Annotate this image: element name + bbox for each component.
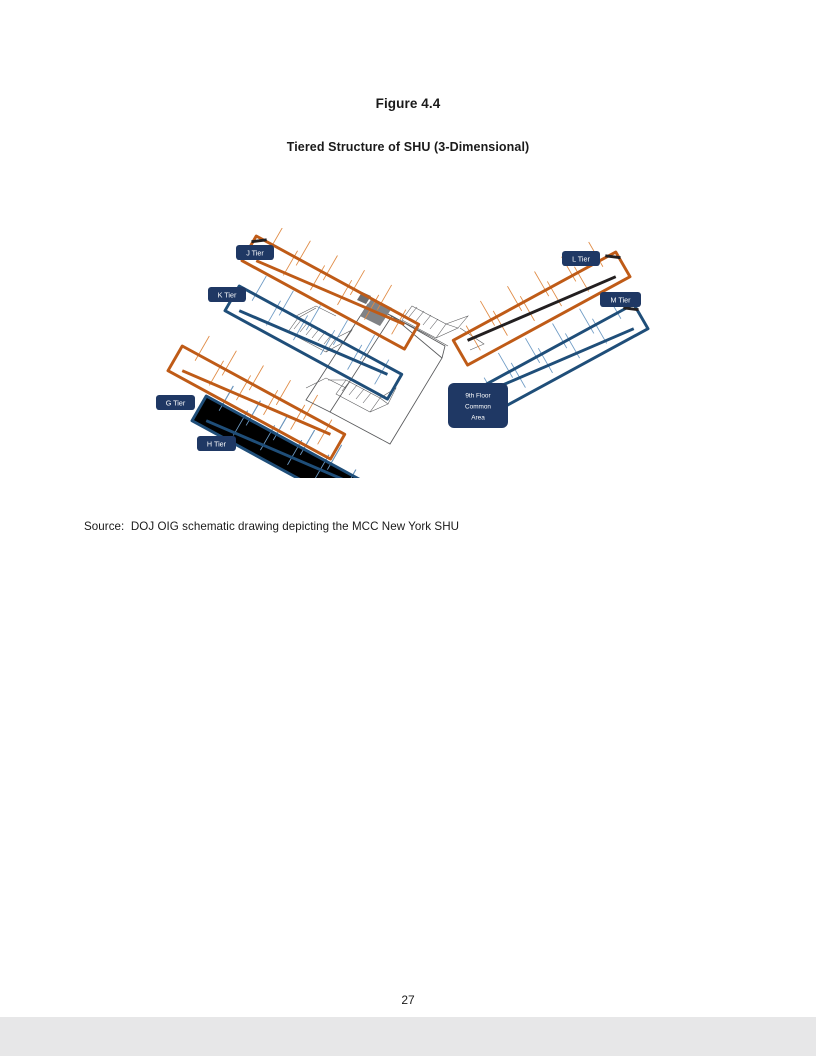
tier-group-lower-left bbox=[168, 336, 369, 478]
tier-label-l-tier-text: L Tier bbox=[572, 254, 590, 263]
tier-label-k-tier[interactable]: K Tier bbox=[208, 287, 246, 302]
tier-label-j-tier[interactable]: J Tier bbox=[236, 245, 274, 260]
source-text: DOJ OIG schematic drawing depicting the … bbox=[131, 520, 459, 533]
source-label: Source: bbox=[84, 520, 131, 533]
tier-label-j-tier-text: J Tier bbox=[246, 248, 264, 257]
tier-label-m-tier-text: M Tier bbox=[611, 295, 632, 304]
tier-label-g-tier-text: G Tier bbox=[166, 398, 186, 407]
figure-diagram: J Tier K Tier L Tier M Tier G Tier bbox=[130, 228, 690, 478]
tier-plate-k[interactable] bbox=[225, 276, 402, 399]
source-caption: Source: DOJ OIG schematic drawing depict… bbox=[84, 520, 459, 533]
footer-band bbox=[0, 1017, 816, 1056]
document-page: Figure 4.4 Tiered Structure of SHU (3-Di… bbox=[0, 0, 816, 1056]
common-area-label[interactable]: 9th Floor Common Area bbox=[448, 383, 508, 428]
common-area-ramp bbox=[357, 292, 392, 326]
tier-label-g-tier[interactable]: G Tier bbox=[156, 395, 195, 410]
tier-label-l-tier[interactable]: L Tier bbox=[562, 251, 600, 266]
tier-label-h-tier[interactable]: H Tier bbox=[197, 436, 236, 451]
common-area-label-line3: Area bbox=[471, 415, 485, 422]
tier-label-k-tier-text: K Tier bbox=[218, 290, 237, 299]
page-number: 27 bbox=[0, 993, 816, 1007]
shu-isometric-schematic: J Tier K Tier L Tier M Tier G Tier bbox=[130, 228, 690, 478]
tier-label-m-tier[interactable]: M Tier bbox=[600, 292, 641, 307]
common-area-label-line1: 9th Floor bbox=[465, 393, 491, 400]
common-area-label-line2: Common bbox=[465, 404, 491, 411]
tier-label-h-tier-text: H Tier bbox=[207, 439, 227, 448]
figure-number: Figure 4.4 bbox=[0, 96, 816, 111]
figure-title: Tiered Structure of SHU (3-Dimensional) bbox=[0, 140, 816, 154]
